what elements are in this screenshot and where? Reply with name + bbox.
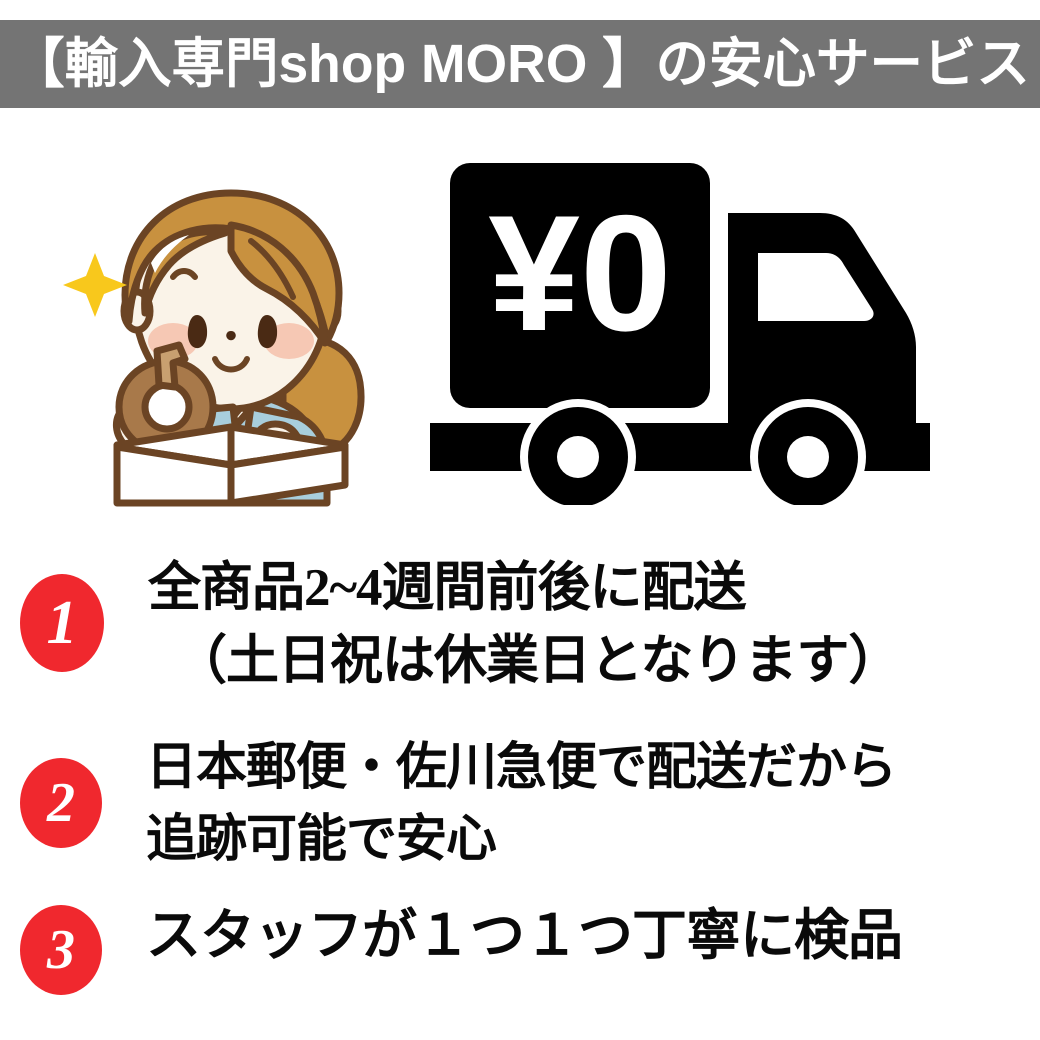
truck-svg: ¥0 [420,145,995,505]
sparkle-icon [63,253,127,317]
truck-price-label: ¥0 [488,181,672,365]
header-band: 【輸入専門shop MORO 】の安心サービス [0,20,1040,108]
list-item: 3 スタッフが１つ１つ丁寧に検品 [0,895,1040,995]
illustration-row: ¥0 [0,120,1040,535]
list-item: 1 全商品2~4週間前後に配送 （土日祝は休業日となります） [0,552,1040,698]
promo-banner-page: 【輸入専門shop MORO 】の安心サービス [0,0,1040,1040]
packing-staff-illustration [55,145,395,510]
point-2-line-2: 追跡可能で安心 [146,804,1040,876]
list-item: 2 日本郵便・佐川急便で配送だから 追跡可能で安心 [0,732,1040,877]
point-text-1: 全商品2~4週間前後に配送 （土日祝は休業日となります） [148,552,1040,698]
service-points-list: 1 全商品2~4週間前後に配送 （土日祝は休業日となります） 2 日本郵便・佐川… [0,540,1040,1040]
point-badge-3: 3 [20,905,102,995]
point-1-line-2: （土日祝は休業日となります） [148,625,1040,698]
point-1-line-1: 全商品2~4週間前後に配送 [148,552,1040,625]
point-badge-2: 2 [20,758,102,848]
point-3-line-1: スタッフが１つ１つ丁寧に検品 [146,903,1040,969]
point-badge-1: 1 [20,574,104,672]
page-title: 【輸入専門shop MORO 】の安心サービス [11,37,1030,91]
point-text-2: 日本郵便・佐川急便で配送だから 追跡可能で安心 [146,732,1040,877]
free-shipping-truck-icon: ¥0 [420,145,995,505]
point-text-3: スタッフが１つ１つ丁寧に検品 [146,903,1040,969]
point-2-line-1: 日本郵便・佐川急便で配送だから [146,732,1040,804]
packing-staff-svg [55,145,395,510]
